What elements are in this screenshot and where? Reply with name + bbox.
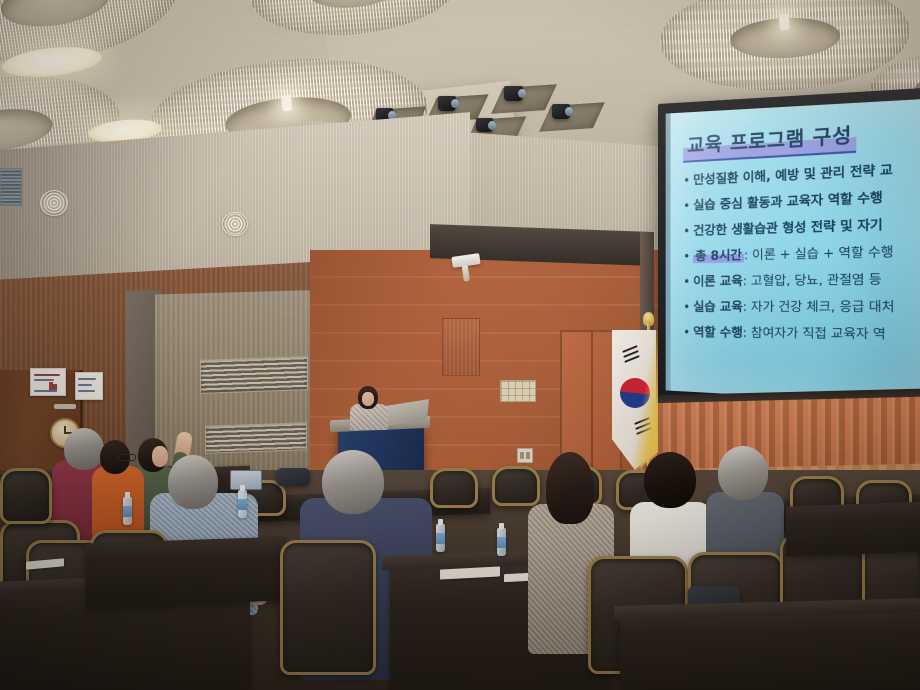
slide-bullet: •실습 교육: 자가 건강 체크, 응급 대처 [683, 299, 920, 313]
bullet-marker: • [683, 324, 690, 339]
stage-wall-panel [442, 318, 480, 376]
chair[interactable] [280, 540, 376, 675]
bullet-marker: • [683, 198, 690, 213]
slide-bullet: •건강한 생활습관 형성 전략 및 자기 [683, 216, 920, 237]
wall-vent-grille [200, 356, 308, 394]
attendee-head [546, 452, 594, 524]
attendee-head [168, 455, 218, 509]
bullet-marker: • [683, 299, 690, 314]
chair[interactable] [0, 468, 52, 524]
table-row [620, 610, 920, 690]
slide-bullet-highlighted: •총 8시간: 이론 + 실습 + 역할 수행 [683, 244, 920, 263]
slide-title: 교육 프로그램 구성 [683, 118, 856, 163]
attendee-head [322, 450, 384, 514]
track-spotlight [504, 86, 523, 101]
wall-speaker-plate [500, 380, 536, 402]
eyeglasses-icon [118, 454, 136, 461]
ceiling-air-diffuser [222, 212, 248, 236]
attendee-head [718, 446, 768, 500]
water-bottle [497, 528, 506, 556]
slide-surface: 교육 프로그램 구성 •만성질환 이해, 예방 및 관리 전략 교 •실습 중심… [666, 98, 920, 405]
water-bottle [238, 490, 247, 518]
wall-poster [75, 372, 103, 400]
track-spotlight [438, 96, 456, 111]
slide-bullet: •만성질환 이해, 예방 및 관리 전략 교 [683, 160, 920, 186]
slide-bullet: •역할 수행: 참여자가 직접 교육자 역 [683, 325, 920, 341]
water-bottle [436, 524, 445, 552]
ceiling-air-diffuser [40, 190, 68, 216]
slide-bullet: •이론 교육: 고혈압, 당뇨, 관절염 등 [683, 271, 920, 287]
table-row [86, 537, 286, 608]
attendee-head [644, 452, 696, 508]
wall-vent-grille [205, 422, 307, 454]
bullet-marker: • [683, 274, 690, 289]
wall-vent-grille [0, 168, 22, 206]
wall-poster [30, 368, 66, 396]
projection-screen[interactable]: 교육 프로그램 구성 •만성질환 이해, 예방 및 관리 전략 교 •실습 중심… [658, 87, 920, 421]
slide-bullet-list: •만성질환 이해, 예방 및 관리 전략 교 •실습 중심 활동과 교육자 역할… [683, 163, 920, 344]
table-row [786, 502, 920, 557]
water-bottle [123, 497, 132, 525]
slide-bullet: •실습 중심 활동과 교육자 역할 수행 [683, 188, 920, 212]
bullet-marker: • [683, 223, 690, 238]
track-spotlight [552, 104, 570, 119]
pendant-light [779, 14, 790, 31]
presenter-face [362, 392, 374, 406]
pendant-light [281, 94, 292, 111]
track-spotlight [476, 118, 493, 132]
bullet-marker: • [683, 172, 690, 188]
bullet-marker: • [683, 248, 690, 263]
conference-hall-photo: 교육 프로그램 구성 •만성질환 이해, 예방 및 관리 전략 교 •실습 중심… [0, 0, 920, 690]
